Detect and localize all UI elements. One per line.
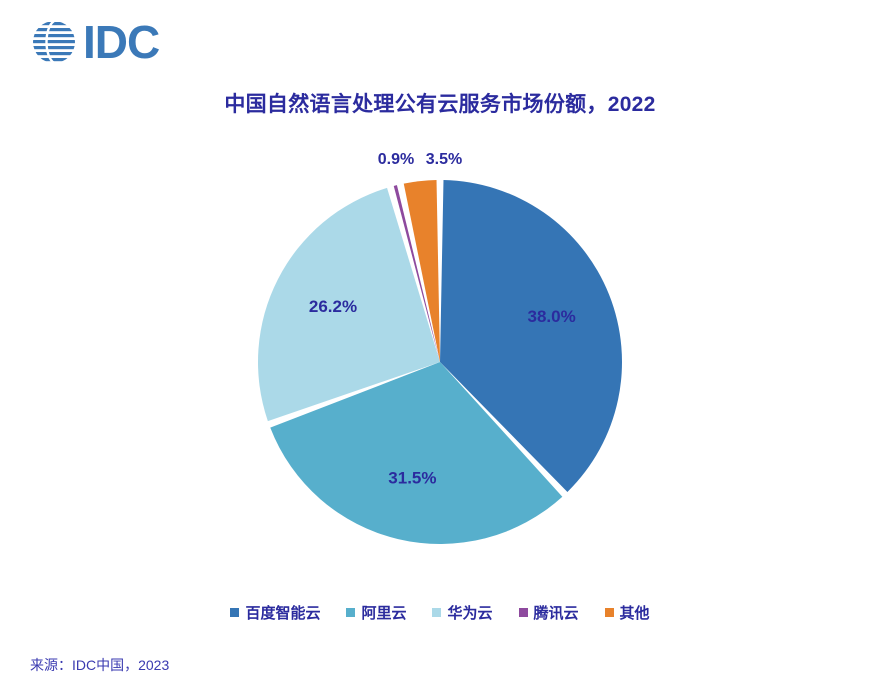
pie-slice-label: 31.5% <box>388 468 436 487</box>
legend-item-label: 阿里云 <box>361 602 406 623</box>
pie-chart-svg: 38.0%31.5%26.2%0.9%3.5% <box>0 130 880 570</box>
legend-swatch-icon <box>432 608 441 617</box>
pie-slice-label: 38.0% <box>527 307 575 326</box>
legend-item[interactable]: 华为云 <box>432 602 492 623</box>
legend-swatch-icon <box>605 608 614 617</box>
source-note: 来源：IDC中国，2023 <box>30 655 169 675</box>
legend-swatch-icon <box>230 608 239 617</box>
idc-wordmark: IDC <box>83 19 159 65</box>
legend-swatch-icon <box>519 608 528 617</box>
legend-item[interactable]: 阿里云 <box>346 602 406 623</box>
idc-globe-icon <box>28 16 80 68</box>
legend-item-label: 腾讯云 <box>534 602 579 623</box>
pie-slice-label: 26.2% <box>309 297 357 316</box>
legend-item-label: 其他 <box>620 602 650 623</box>
pie-chart: 38.0%31.5%26.2%0.9%3.5% <box>0 130 880 570</box>
legend-item-label: 华为云 <box>447 602 492 623</box>
idc-logo: IDC <box>28 16 159 68</box>
pie-slice-label: 3.5% <box>426 151 462 168</box>
chart-legend: 百度智能云阿里云华为云腾讯云其他 <box>0 602 880 623</box>
pie-slice-group <box>258 180 622 544</box>
pie-slice-label: 0.9% <box>378 151 414 168</box>
legend-item[interactable]: 腾讯云 <box>519 602 579 623</box>
chart-title: 中国自然语言处理公有云服务市场份额，2022 <box>0 88 880 118</box>
legend-item-label: 百度智能云 <box>245 602 320 623</box>
legend-item[interactable]: 百度智能云 <box>230 602 320 623</box>
legend-item[interactable]: 其他 <box>605 602 650 623</box>
legend-swatch-icon <box>346 608 355 617</box>
